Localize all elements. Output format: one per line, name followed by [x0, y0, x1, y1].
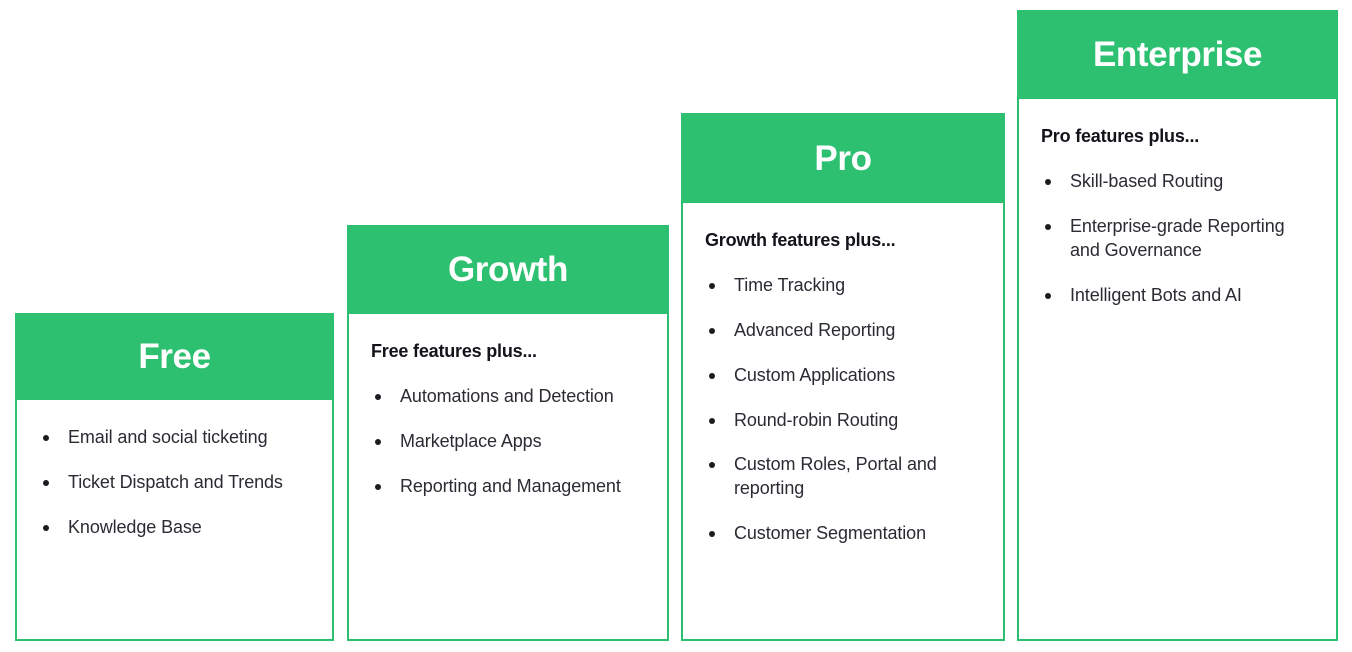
tier-card-growth[interactable]: Growth Free features plus... Automations…	[347, 225, 669, 641]
tier-header-growth: Growth	[347, 225, 669, 314]
bullet-icon	[709, 418, 715, 424]
bullet-icon	[709, 462, 715, 468]
feature-label: Enterprise-grade Reporting and Governanc…	[1070, 216, 1285, 260]
feature-label: Marketplace Apps	[400, 431, 541, 451]
feature-label: Intelligent Bots and AI	[1070, 285, 1242, 305]
feature-item: Intelligent Bots and AI	[1041, 284, 1314, 308]
tier-card-free[interactable]: Free Email and social ticketing Ticket D…	[15, 313, 334, 641]
tier-header-enterprise: Enterprise	[1017, 10, 1338, 99]
feature-item: Advanced Reporting	[705, 319, 981, 343]
tier-subtitle-pro: Growth features plus...	[705, 229, 981, 252]
bullet-icon	[375, 484, 381, 490]
feature-label: Ticket Dispatch and Trends	[68, 472, 283, 492]
feature-label: Knowledge Base	[68, 517, 202, 537]
feature-item: Skill-based Routing	[1041, 170, 1314, 194]
bullet-icon	[709, 373, 715, 379]
feature-item: Ticket Dispatch and Trends	[39, 471, 310, 495]
feature-label: Custom Roles, Portal and reporting	[734, 454, 937, 498]
tier-body-pro: Growth features plus... Time Tracking Ad…	[681, 203, 1005, 641]
feature-label: Email and social ticketing	[68, 427, 268, 447]
tier-body-growth: Free features plus... Automations and De…	[347, 314, 669, 641]
feature-item: Round-robin Routing	[705, 409, 981, 433]
feature-list-growth: Automations and Detection Marketplace Ap…	[371, 385, 645, 498]
tier-card-pro[interactable]: Pro Growth features plus... Time Trackin…	[681, 113, 1005, 641]
feature-label: Reporting and Management	[400, 476, 621, 496]
feature-label: Custom Applications	[734, 365, 895, 385]
feature-item: Marketplace Apps	[371, 430, 645, 454]
feature-item: Time Tracking	[705, 274, 981, 298]
tier-subtitle-enterprise: Pro features plus...	[1041, 125, 1314, 148]
feature-item: Custom Applications	[705, 364, 981, 388]
bullet-icon	[375, 394, 381, 400]
feature-item: Knowledge Base	[39, 516, 310, 540]
tier-card-enterprise[interactable]: Enterprise Pro features plus... Skill-ba…	[1017, 10, 1338, 641]
bullet-icon	[43, 480, 49, 486]
bullet-icon	[43, 435, 49, 441]
tier-title-enterprise: Enterprise	[1093, 37, 1262, 72]
feature-list-enterprise: Skill-based Routing Enterprise-grade Rep…	[1041, 170, 1314, 307]
feature-label: Automations and Detection	[400, 386, 614, 406]
bullet-icon	[709, 328, 715, 334]
tier-title-free: Free	[138, 339, 210, 374]
tier-body-enterprise: Pro features plus... Skill-based Routing…	[1017, 99, 1338, 641]
tier-title-pro: Pro	[814, 141, 871, 176]
feature-label: Customer Segmentation	[734, 523, 926, 543]
bullet-icon	[43, 525, 49, 531]
feature-label: Advanced Reporting	[734, 320, 895, 340]
bullet-icon	[1045, 293, 1051, 299]
tier-title-growth: Growth	[448, 252, 568, 287]
feature-label: Round-robin Routing	[734, 410, 898, 430]
bullet-icon	[1045, 224, 1051, 230]
feature-item: Automations and Detection	[371, 385, 645, 409]
bullet-icon	[709, 283, 715, 289]
feature-item: Reporting and Management	[371, 475, 645, 499]
feature-label: Skill-based Routing	[1070, 171, 1223, 191]
feature-item: Customer Segmentation	[705, 522, 981, 546]
feature-item: Email and social ticketing	[39, 426, 310, 450]
feature-label: Time Tracking	[734, 275, 845, 295]
bullet-icon	[1045, 179, 1051, 185]
feature-list-free: Email and social ticketing Ticket Dispat…	[39, 426, 310, 539]
pricing-tier-board: Free Email and social ticketing Ticket D…	[0, 0, 1352, 652]
tier-header-pro: Pro	[681, 113, 1005, 203]
tier-body-free: Email and social ticketing Ticket Dispat…	[15, 400, 334, 641]
bullet-icon	[375, 439, 381, 445]
feature-list-pro: Time Tracking Advanced Reporting Custom …	[705, 274, 981, 545]
bullet-icon	[709, 531, 715, 537]
tier-subtitle-growth: Free features plus...	[371, 340, 645, 363]
feature-item: Custom Roles, Portal and reporting	[705, 453, 981, 501]
tier-header-free: Free	[15, 313, 334, 400]
feature-item: Enterprise-grade Reporting and Governanc…	[1041, 215, 1314, 263]
